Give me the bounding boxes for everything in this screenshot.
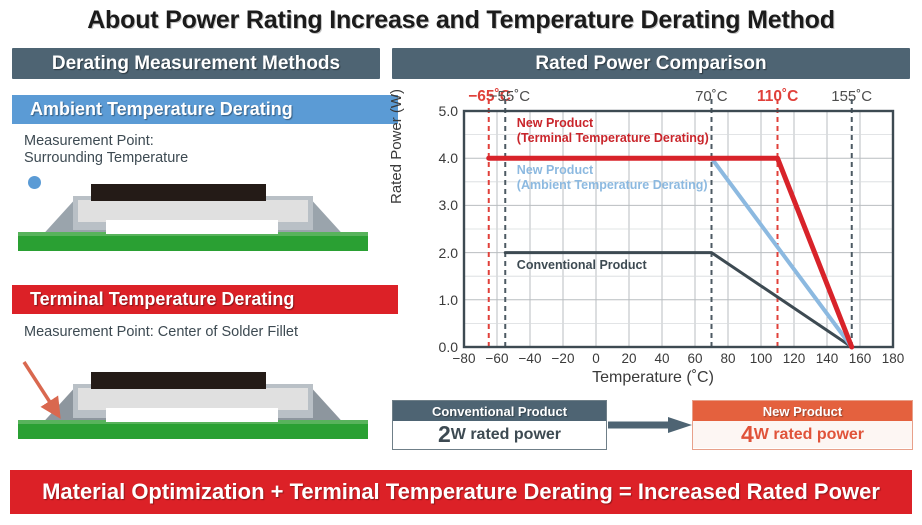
rated-power-chart: −65˚C−55˚C70˚C110˚C155˚C Rated Power (W)… [392,84,914,394]
footer-banner: Material Optimization + Terminal Tempera… [10,470,912,514]
new-box-body: 4 W rated power [693,421,912,448]
legend-ambient-line2: (Ambient Temperature Derating) [517,178,708,193]
pcb-board-2 [18,422,368,439]
terminal-measurement-point: Measurement Point: Center of Solder Fill… [24,324,364,341]
device-cross-section-ambient [18,172,368,257]
orange-arrow-icon [24,362,55,410]
page-title: About Power Rating Increase and Temperat… [0,0,922,40]
device-top-electrode-2 [91,372,266,389]
legend-ambient-line1: New Product [517,163,708,178]
legend-terminal-line2: (Terminal Temperature Derating) [517,131,709,146]
device-body-inner-2 [78,388,308,410]
legend-ambient-derating: New Product (Ambient Temperature Deratin… [517,163,708,193]
legend-terminal-derating: New Product (Terminal Temperature Derati… [517,116,709,146]
legend-conventional-product: Conventional Product [517,258,647,273]
ambient-measure-line1: Measurement Point: [24,133,354,150]
pcb-board [18,234,368,251]
new-unit: W rated power [754,426,864,444]
device-gap [106,220,278,234]
device-cross-section-terminal [18,360,368,450]
right-arrow-icon [608,417,692,433]
conventional-value: 2 [438,421,451,448]
legend-terminal-line1: New Product [517,116,709,131]
new-value: 4 [741,421,754,448]
ambient-measure-line2: Surrounding Temperature [24,150,354,167]
ambient-derating-bar: Ambient Temperature Derating [12,95,398,124]
device-top-electrode [91,184,266,201]
right-panel-header: Rated Power Comparison [392,48,910,79]
device-gap-2 [106,408,278,422]
conventional-box-header: Conventional Product [393,401,606,421]
legend-conventional-line1: Conventional Product [517,258,647,273]
device-body-inner [78,200,308,222]
conventional-product-box: Conventional Product 2 W rated power [392,400,607,450]
conventional-box-body: 2 W rated power [393,421,606,448]
new-box-header: New Product [693,401,912,421]
left-panel-header: Derating Measurement Methods [12,48,380,79]
infographic-page: About Power Rating Increase and Temperat… [0,0,922,525]
new-product-box: New Product 4 W rated power [692,400,913,450]
terminal-derating-bar: Terminal Temperature Derating [12,285,398,314]
device-diagram-svg [18,172,368,252]
ambient-measurement-point: Measurement Point: Surrounding Temperatu… [24,133,354,167]
conventional-unit: W rated power [451,426,561,444]
device-diagram-svg-2 [18,360,368,445]
